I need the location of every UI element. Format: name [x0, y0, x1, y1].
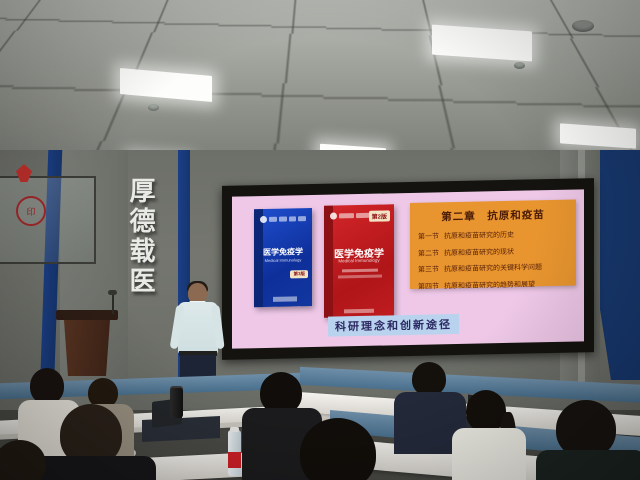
publisher-mark — [344, 309, 374, 314]
thermos[interactable] — [170, 388, 183, 418]
section-number: 第四节 — [418, 281, 444, 292]
wall-motto: 厚 德 载 医 — [126, 176, 160, 296]
section-number: 第一节 — [418, 231, 444, 242]
red-textbook-cover: 第2版 医学免疫学 Medical Immunology — [324, 204, 394, 317]
person-head — [412, 362, 446, 396]
microphone-stand — [112, 294, 114, 314]
blue-textbook-cover: 医学免疫学 Medical Immunology 第3版 — [254, 208, 312, 307]
person-head — [30, 368, 64, 404]
smoke-detector-icon — [148, 104, 159, 111]
section-item: 第一节抗原和疫苗研究的历史 — [418, 228, 576, 241]
bottle-cap — [230, 427, 239, 432]
book-header-bar — [260, 215, 306, 223]
book-edition-badge: 第3版 — [290, 270, 308, 278]
slide-caption: 科研理念和创新途径 — [328, 314, 459, 337]
motto-char: 载 — [126, 236, 160, 266]
glass-whiteboard — [0, 176, 96, 264]
section-number: 第二节 — [418, 248, 444, 259]
person-body — [32, 456, 156, 480]
person-body — [452, 428, 526, 480]
section-item: 第二节抗原和疫苗研究的现状 — [418, 245, 576, 258]
section-item: 第四节抗原和疫苗研究的趋势和展望 — [418, 278, 576, 291]
book-author-line — [338, 275, 382, 279]
lecture-hall-photo: 厚 德 载 医 印 医学免疫学 Medical Immunology 第3版 — [0, 0, 640, 480]
smoke-detector-icon — [514, 62, 525, 69]
book-subtitle: Medical Immunology — [254, 257, 312, 263]
publisher-mark — [273, 296, 297, 302]
institution-seal: 印 — [16, 196, 46, 226]
ceiling-vent — [572, 20, 594, 32]
section-number: 第三节 — [418, 264, 444, 275]
section-text: 抗原和疫苗研究的现状 — [444, 248, 514, 256]
presenter-head — [188, 283, 207, 304]
chapter-title: 第二章 抗原和疫苗 — [410, 206, 576, 224]
motto-char: 德 — [126, 206, 160, 236]
book-author-line — [342, 269, 378, 273]
lectern-top — [56, 310, 118, 320]
section-text: 抗原和疫苗研究的历史 — [444, 232, 514, 240]
section-text: 抗原和疫苗研究的趋势和展望 — [444, 281, 535, 290]
person-head — [300, 418, 376, 480]
bottle-label — [228, 452, 241, 468]
publisher-emblem-icon — [330, 212, 337, 219]
publisher-emblem-icon — [260, 216, 267, 223]
motto-char: 医 — [126, 266, 160, 296]
section-list: 第一节抗原和疫苗研究的历史 第二节抗原和疫苗研究的现状 第三节抗原和疫苗研究的关… — [410, 228, 576, 291]
motto-char: 厚 — [126, 176, 160, 206]
chapter-outline-panel: 第二章 抗原和疫苗 第一节抗原和疫苗研究的历史 第二节抗原和疫苗研究的现状 第三… — [410, 199, 576, 288]
microphone-icon — [108, 290, 117, 295]
lectern-body — [62, 320, 112, 376]
slide-content: 医学免疫学 Medical Immunology 第3版 第2版 医学免疫学 M… — [232, 189, 584, 348]
section-item: 第三节抗原和疫苗研究的关键科学问题 — [418, 261, 576, 274]
blue-accent-panel-right — [596, 150, 640, 380]
book-subtitle: Medical Immunology — [324, 257, 394, 263]
projection-screen[interactable]: 医学免疫学 Medical Immunology 第3版 第2版 医学免疫学 M… — [222, 178, 594, 360]
person-body — [536, 450, 640, 480]
section-text: 抗原和疫苗研究的关键科学问题 — [444, 264, 542, 273]
book-edition-badge: 第2版 — [369, 210, 390, 221]
